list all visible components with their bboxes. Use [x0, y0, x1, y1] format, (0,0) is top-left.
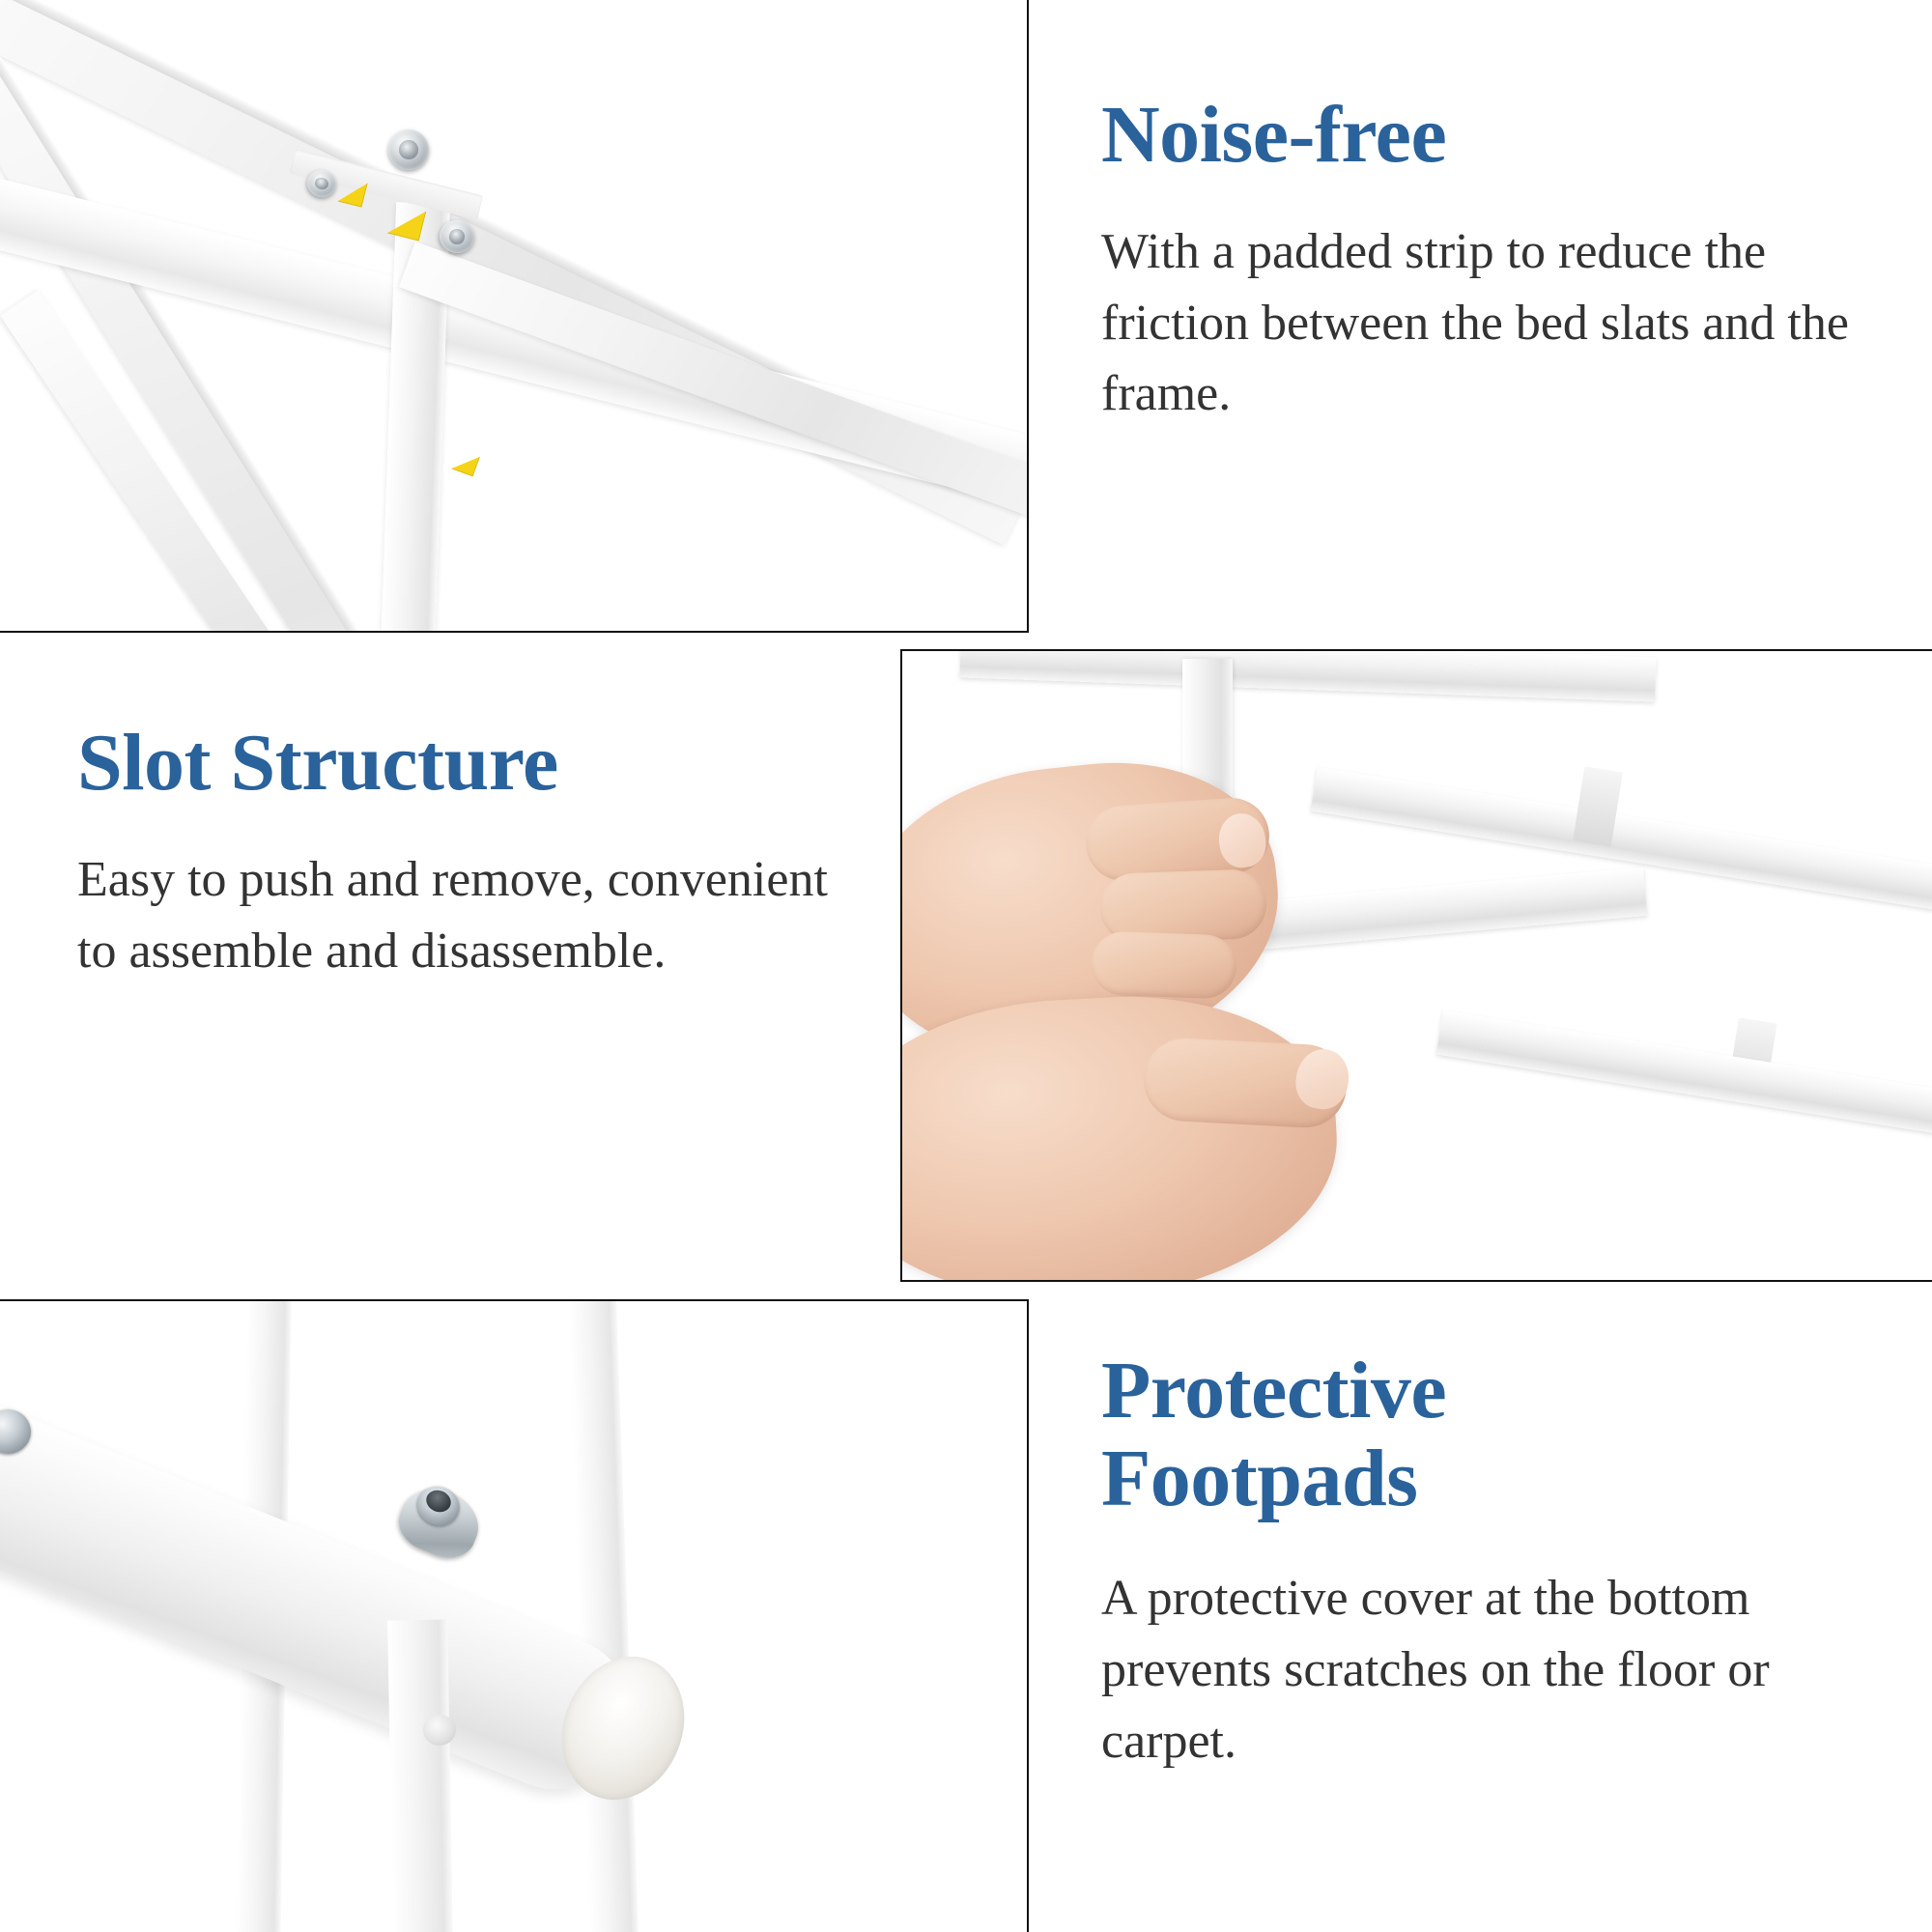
- frame-rail-top: [959, 649, 1656, 702]
- noise-free-body: With a padded strip to reduce the fricti…: [1101, 216, 1874, 430]
- noise-free-text-block: Noise-free With a padded strip to reduce…: [1101, 92, 1874, 430]
- hands-assembling-frame-illustration: [902, 651, 1932, 1280]
- noise-free-title: Noise-free: [1101, 92, 1874, 180]
- protective-footpads-body: A protective cover at the bottom prevent…: [1101, 1563, 1893, 1776]
- noise-free-photo: [0, 0, 1029, 633]
- vertical-leg-lower: [387, 1619, 453, 1932]
- tube-leg-footpad-illustration: [0, 1301, 1027, 1932]
- slot-structure-title: Slot Structure: [77, 720, 850, 808]
- protective-footpads-photo: [0, 1299, 1029, 1932]
- finger-upper-ring: [1091, 930, 1237, 999]
- main-tube-leg: [0, 1359, 654, 1812]
- protective-footpads-title-line2: Footpads: [1101, 1434, 1417, 1523]
- slot-structure-text-block: Slot Structure Easy to push and remove, …: [77, 720, 850, 986]
- leg-joint-bolt: [423, 1715, 456, 1746]
- warning-label-bottom: [451, 449, 480, 477]
- slot-structure-photo: [900, 649, 1932, 1282]
- hand-lower: [900, 986, 1345, 1282]
- slat-joint-illustration: [0, 0, 1027, 631]
- feature-infographic: Noise-free With a padded strip to reduce…: [0, 0, 1932, 1932]
- protective-footpads-title-line1: Protective: [1101, 1346, 1446, 1435]
- frame-rail-right-lower: [1436, 1010, 1932, 1139]
- slot-structure-body: Easy to push and remove, convenient to a…: [77, 844, 850, 987]
- background-post-right: [568, 1299, 639, 1932]
- protective-footpads-title: Protective Footpads: [1101, 1348, 1893, 1522]
- bolt-upper: [388, 129, 429, 170]
- protective-footpads-text-block: Protective Footpads A protective cover a…: [1101, 1348, 1893, 1777]
